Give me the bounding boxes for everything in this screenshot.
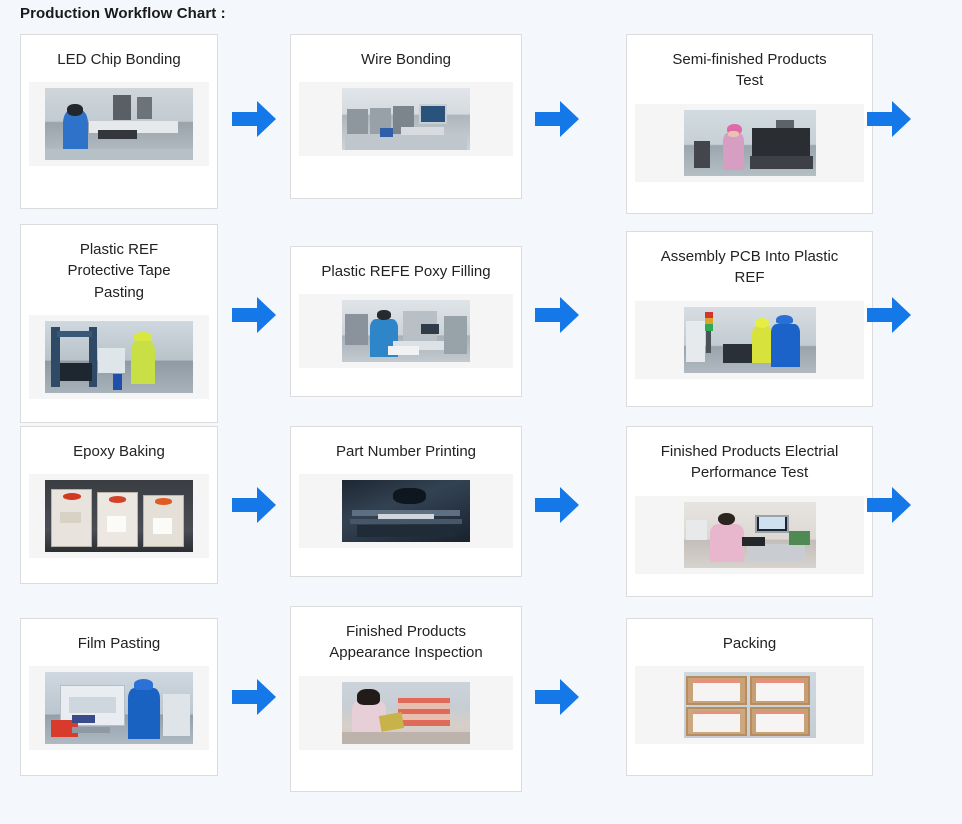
- workflow-cell: Semi-finished Products Test: [603, 34, 962, 214]
- workflow-cell: Finished Products Appearance Inspection: [285, 618, 603, 792]
- card-photo-band: [29, 666, 209, 750]
- workflow-card-film-pasting[interactable]: Film Pasting: [20, 618, 218, 776]
- workflow-card-finished-products-electrical-performance-test[interactable]: Finished Products Electrial Performance …: [626, 426, 873, 597]
- taping-station-green-suit-image: [45, 321, 193, 393]
- workflow-card-finished-products-appearance-inspection[interactable]: Finished Products Appearance Inspection: [290, 606, 522, 792]
- workflow-cell: Plastic REFE Poxy Filling: [285, 224, 603, 397]
- flow-arrow-icon: [230, 98, 278, 140]
- flow-arrow-icon: [865, 484, 913, 526]
- card-photo-band: [635, 104, 864, 182]
- page-title: Production Workflow Chart :: [20, 5, 226, 22]
- workflow-cell: Wire Bonding: [285, 34, 603, 199]
- workflow-card-part-number-printing[interactable]: Part Number Printing: [290, 426, 522, 577]
- workflow-card-semi-finished-products-test[interactable]: Semi-finished Products Test: [626, 34, 873, 214]
- card-title: Assembly PCB Into Plastic REF: [661, 246, 839, 289]
- card-title: Packing: [723, 633, 776, 654]
- workflow-cell: Packing: [603, 618, 962, 776]
- card-title: Film Pasting: [78, 633, 161, 654]
- card-title: Finished Products Electrial Performance …: [661, 441, 839, 484]
- workflow-card-epoxy-baking[interactable]: Epoxy Baking: [20, 426, 218, 584]
- flow-arrow-icon: [533, 484, 581, 526]
- card-title: LED Chip Bonding: [57, 49, 180, 70]
- three-baking-ovens-image: [45, 480, 193, 552]
- operator-at-chip-bonder-image: [45, 88, 193, 160]
- workflow-row: Epoxy Baking Part Number Printing: [0, 426, 962, 618]
- card-photo-band: [635, 301, 864, 379]
- flow-arrow-icon: [865, 294, 913, 336]
- workflow-cell: Epoxy Baking: [0, 426, 285, 584]
- workflow-card-led-chip-bonding[interactable]: LED Chip Bonding: [20, 34, 218, 209]
- card-photo-band: [299, 676, 513, 750]
- workflow-cell: Assembly PCB Into Plastic REF: [603, 224, 962, 407]
- workflow-grid: LED Chip Bonding Wire Bonding: [0, 34, 962, 810]
- workflow-card-wire-bonding[interactable]: Wire Bonding: [290, 34, 522, 199]
- workflow-row: LED Chip Bonding Wire Bonding: [0, 34, 962, 224]
- card-photo-band: [29, 315, 209, 399]
- card-photo-band: [635, 666, 864, 744]
- flow-arrow-icon: [230, 294, 278, 336]
- workflow-cell: Film Pasting: [0, 618, 285, 776]
- workflow-cell: Part Number Printing: [285, 426, 603, 577]
- card-photo-band: [299, 294, 513, 368]
- laser-printing-machine-image: [342, 480, 470, 542]
- flow-arrow-icon: [230, 676, 278, 718]
- flow-arrow-icon: [230, 484, 278, 526]
- card-photo-band: [299, 82, 513, 156]
- card-title: Wire Bonding: [361, 49, 451, 70]
- workflow-card-plastic-ref-protective-tape-pasting[interactable]: Plastic REF Protective Tape Pasting: [20, 224, 218, 423]
- card-photo-band: [299, 474, 513, 548]
- card-title: Finished Products Appearance Inspection: [329, 621, 482, 664]
- electrical-test-bench-image: [684, 502, 816, 568]
- flow-arrow-icon: [533, 294, 581, 336]
- workflow-card-assembly-pcb-into-plastic-ref[interactable]: Assembly PCB Into Plastic REF: [626, 231, 873, 407]
- pink-gown-operator-tester-image: [684, 110, 816, 176]
- flow-arrow-icon: [865, 98, 913, 140]
- epoxy-filling-machine-image: [342, 300, 470, 362]
- film-pasting-machine-image: [45, 672, 193, 744]
- card-photo-band: [29, 474, 209, 558]
- workflow-cell: Plastic REF Protective Tape Pasting: [0, 224, 285, 423]
- card-title: Plastic REF Protective Tape Pasting: [67, 239, 170, 303]
- card-photo-band: [635, 496, 864, 574]
- assembly-line-two-workers-image: [684, 307, 816, 373]
- flow-arrow-icon: [533, 98, 581, 140]
- workflow-card-plastic-refe-poxy-filling[interactable]: Plastic REFE Poxy Filling: [290, 246, 522, 397]
- wire-bonding-machine-row-image: [342, 88, 470, 150]
- card-title: Epoxy Baking: [73, 441, 165, 462]
- workflow-row: Plastic REF Protective Tape Pasting Plas…: [0, 224, 962, 426]
- workflow-row: Film Pasting Finished Products Appearanc…: [0, 618, 962, 810]
- workflow-cell: LED Chip Bonding: [0, 34, 285, 209]
- flow-arrow-icon: [533, 676, 581, 718]
- cartons-packed-product-image: [684, 672, 816, 738]
- card-title: Part Number Printing: [336, 441, 476, 462]
- card-title: Plastic REFE Poxy Filling: [321, 261, 490, 282]
- visual-inspection-operator-image: [342, 682, 470, 744]
- workflow-card-packing[interactable]: Packing: [626, 618, 873, 776]
- card-photo-band: [29, 82, 209, 166]
- card-title: Semi-finished Products Test: [672, 49, 826, 92]
- workflow-cell: Finished Products Electrial Performance …: [603, 426, 962, 597]
